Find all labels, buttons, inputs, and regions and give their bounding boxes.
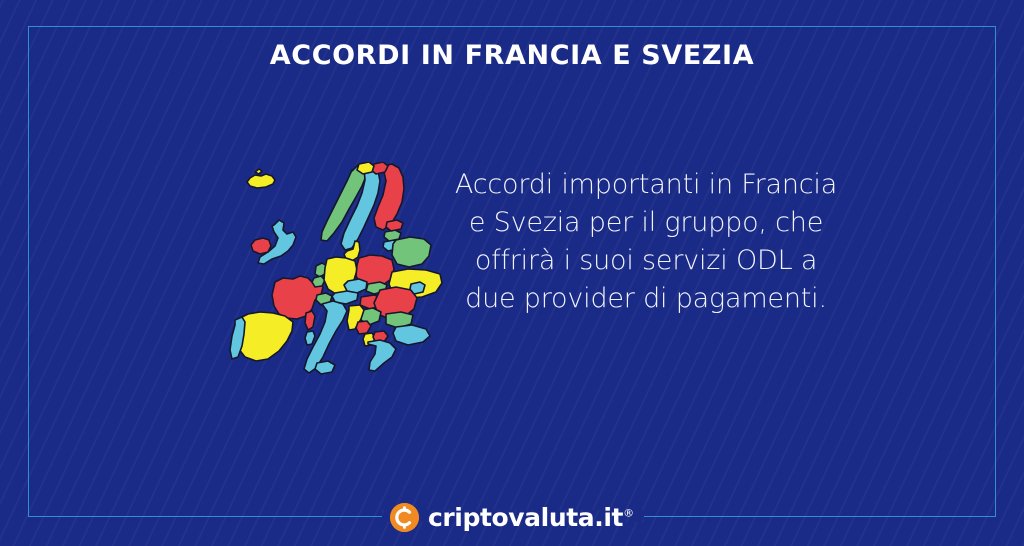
- map-region-sicily: [315, 361, 335, 374]
- brand-logo-name: criptovaluta.it: [428, 503, 623, 532]
- criptovaluta-coin-icon: [390, 503, 419, 532]
- page-title: ACCORDI IN FRANCIA E SVEZIA: [0, 40, 1024, 71]
- map-region-north-tip: [357, 162, 374, 174]
- map-region-sardinia: [305, 311, 315, 330]
- map-region-iceland: [247, 169, 275, 188]
- map-region-moldova: [410, 282, 425, 294]
- registered-trademark-symbol: ®: [623, 506, 634, 519]
- map-region-belarus: [392, 237, 431, 267]
- map-region-spain: [236, 312, 293, 361]
- brand-logo[interactable]: criptovaluta.it®: [0, 497, 1024, 537]
- map-region-estonia: [386, 220, 403, 231]
- brand-logo-text: criptovaluta.it®: [428, 503, 634, 532]
- map-region-belgium: [312, 276, 325, 287]
- map-region-greece: [368, 340, 396, 371]
- body-text: Accordi importanti in Francia e Svezia p…: [452, 166, 840, 318]
- map-region-ireland: [251, 238, 271, 254]
- map-region-corsica: [305, 331, 315, 345]
- map-region-turkey-edge: [393, 325, 430, 345]
- map-region-bosnia: [356, 321, 371, 334]
- europe-map: [228, 162, 454, 390]
